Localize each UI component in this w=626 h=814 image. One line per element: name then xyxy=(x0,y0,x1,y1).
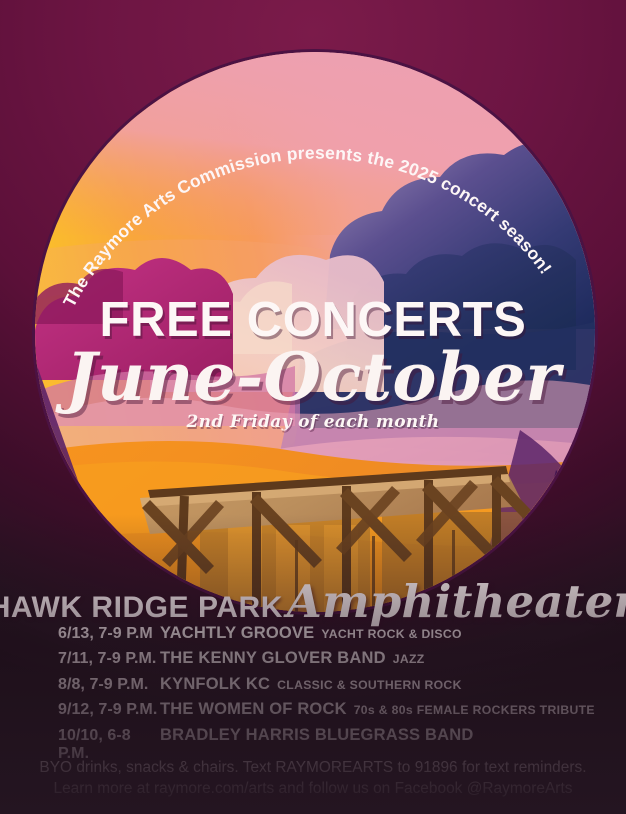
table-row: 8/8, 7-9 P.M. KYNFOLK KC CLASSIC & SOUTH… xyxy=(0,675,626,700)
concert-date: 6/13, 7-9 P.M xyxy=(0,625,160,643)
concert-schedule: 6/13, 7-9 P.M YACHTLY GROOVE YACHT ROCK … xyxy=(0,624,626,751)
concert-date: 9/12, 7-9 P.M. xyxy=(0,701,160,719)
table-row: 10/10, 6-8 P.M. BRADLEY HARRIS BLUEGRASS… xyxy=(0,726,626,751)
venue-primary: HAWK RIDGE PARK xyxy=(0,591,283,625)
season-note: 2nd Friday of each month xyxy=(0,412,626,432)
concert-band: THE WOMEN OF ROCK xyxy=(160,700,347,719)
concert-genre: JAZZ xyxy=(393,652,425,666)
footer-line-2: Learn more at raymore.com/arts and follo… xyxy=(0,778,626,799)
footer-line-1: BYO drinks, snacks & chairs. Text RAYMOR… xyxy=(0,757,626,778)
concert-band: THE KENNY GLOVER BAND xyxy=(160,649,386,668)
concert-genre: YACHT ROCK & DISCO xyxy=(321,627,461,641)
concert-date: 7/11, 7-9 P.M. xyxy=(0,650,160,668)
concert-genre: 70s & 80s FEMALE ROCKERS TRIBUTE xyxy=(354,703,595,717)
concert-date: 8/8, 7-9 P.M. xyxy=(0,676,160,694)
venue-script: Amphitheater xyxy=(287,575,626,628)
table-row: 7/11, 7-9 P.M. THE KENNY GLOVER BAND JAZ… xyxy=(0,649,626,674)
season-title: June-October xyxy=(0,338,626,416)
concert-genre: CLASSIC & SOUTHERN ROCK xyxy=(277,678,462,692)
concert-band: YACHTLY GROOVE xyxy=(160,624,314,643)
concert-band: BRADLEY HARRIS BLUEGRASS BAND xyxy=(160,726,473,745)
concert-band: KYNFOLK KC xyxy=(160,675,270,694)
footer-info: BYO drinks, snacks & chairs. Text RAYMOR… xyxy=(0,757,626,799)
venue-name: HAWK RIDGE PARK Amphitheater xyxy=(0,575,626,628)
concert-poster: The Raymore Arts Commission presents the… xyxy=(0,0,626,814)
table-row: 6/13, 7-9 P.M YACHTLY GROOVE YACHT ROCK … xyxy=(0,624,626,649)
table-row: 9/12, 7-9 P.M. THE WOMEN OF ROCK 70s & 8… xyxy=(0,700,626,725)
